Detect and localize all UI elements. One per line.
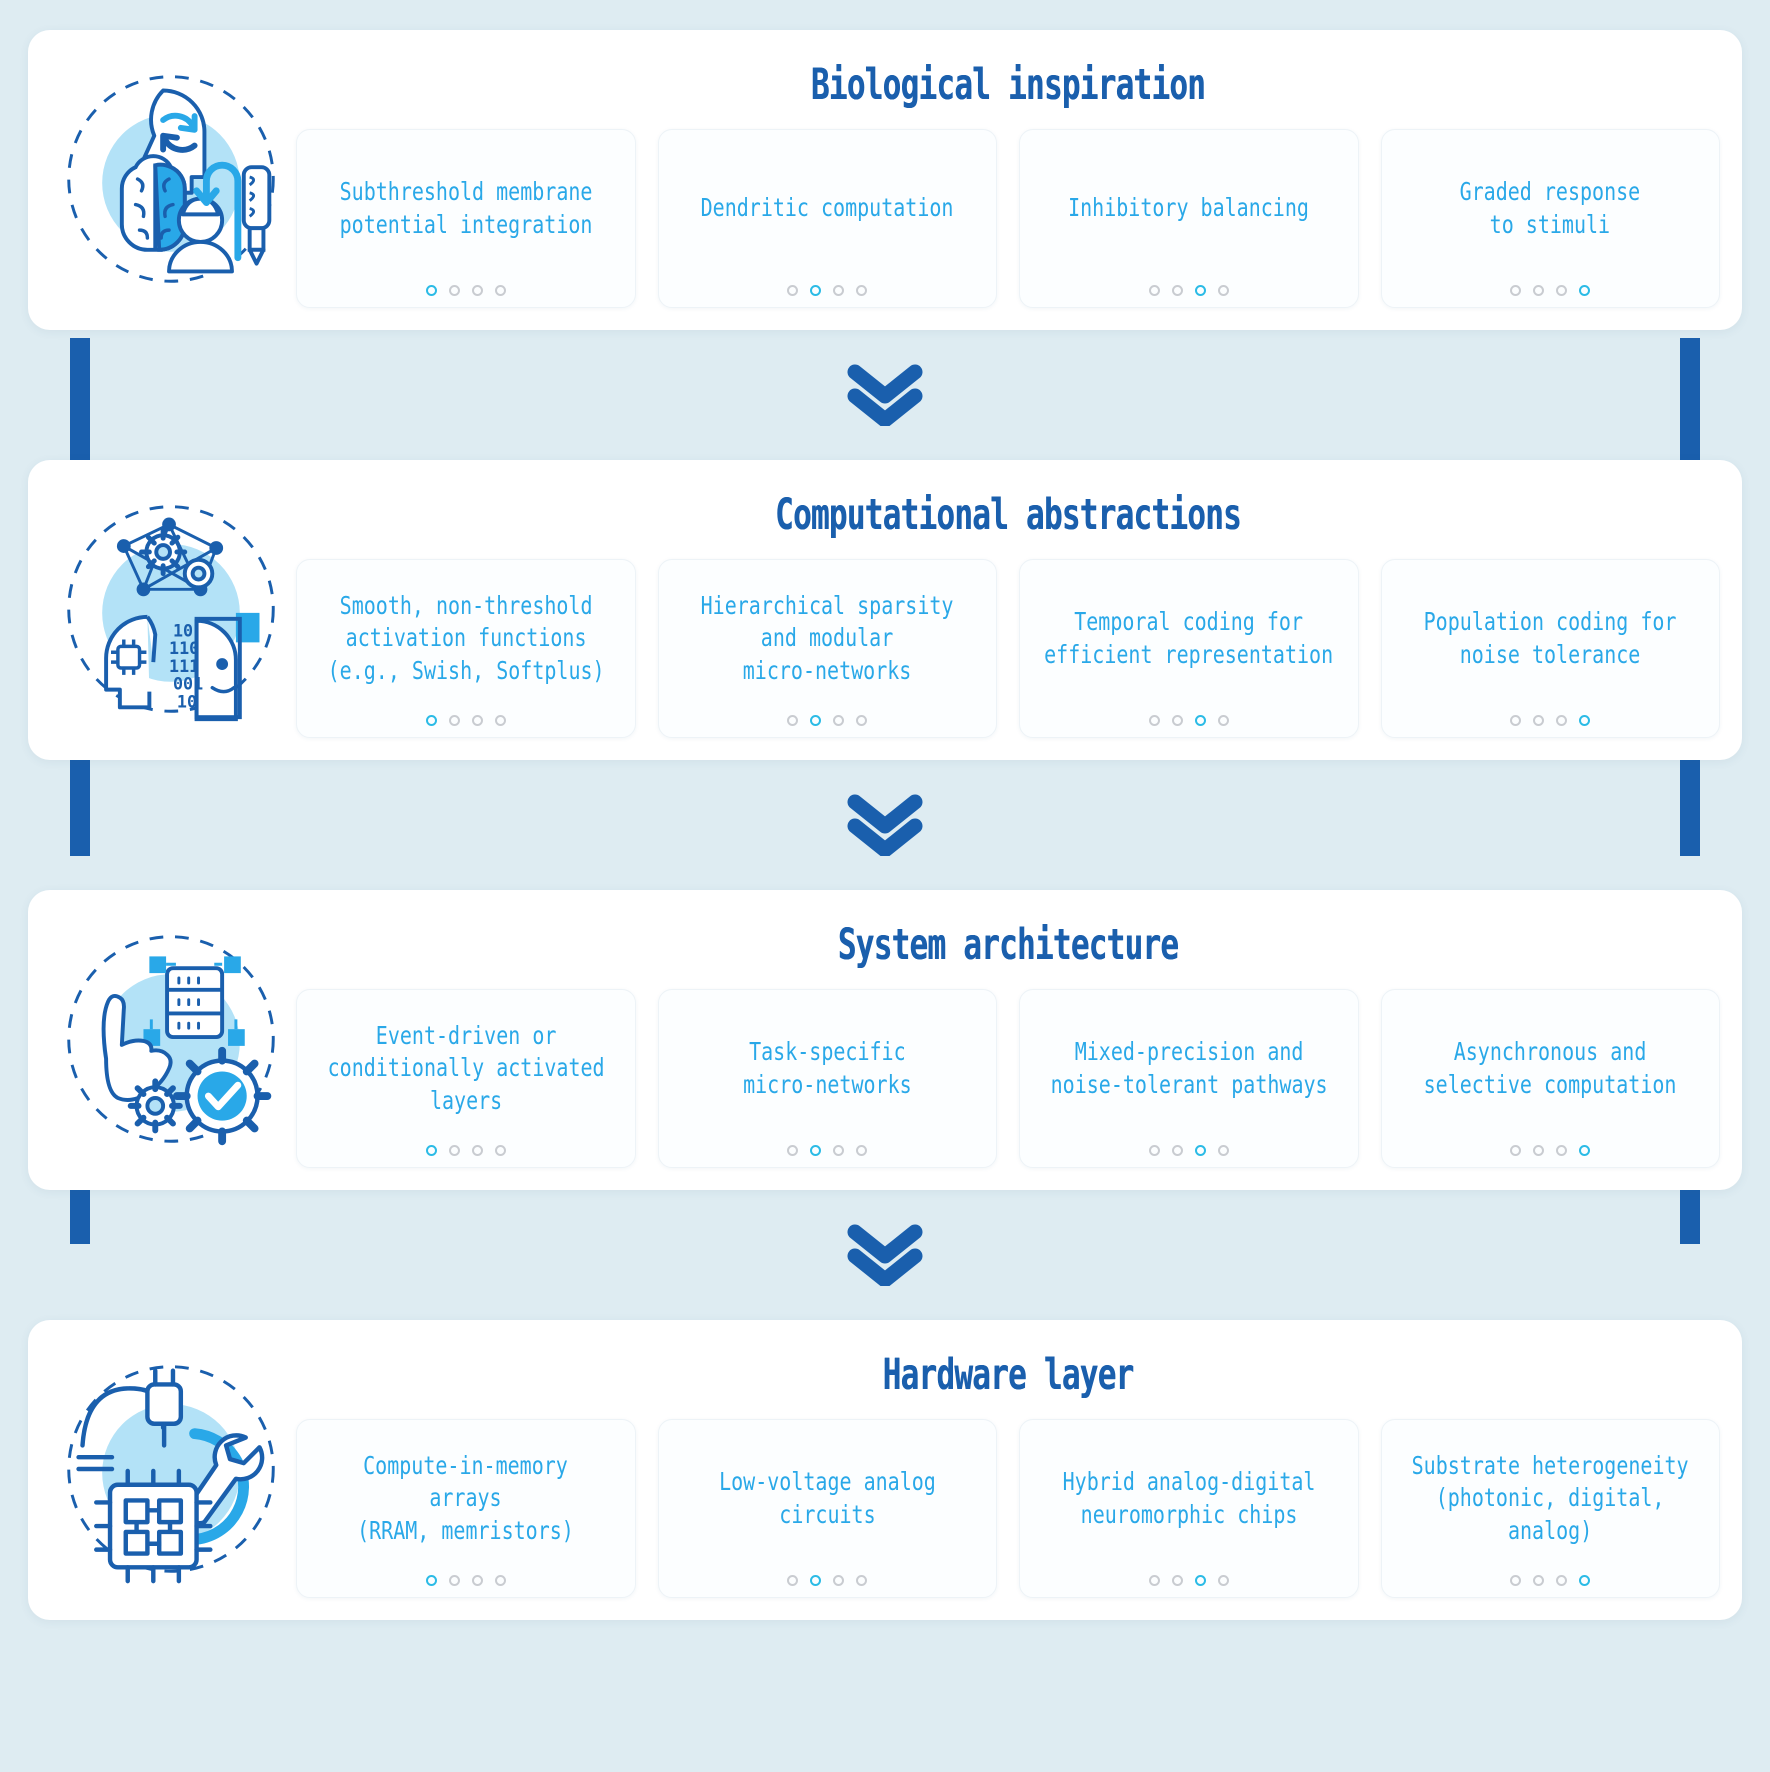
section-stack: Biological inspiration Subthreshold memb… (28, 30, 1742, 1620)
section-computational-abstractions: 10 110 111 001 10 Computational abstract… (28, 460, 1742, 760)
card-text-line: Task-specific (743, 1036, 912, 1069)
card-pagination-dots (1149, 1131, 1229, 1157)
pagination-dot[interactable] (1533, 285, 1544, 296)
hand-gear-checkmark-server-icon (46, 906, 296, 1172)
section-title: Biological inspiration (495, 46, 1520, 129)
pagination-dot[interactable] (1556, 285, 1567, 296)
neural-network-binary-head-icon: 10 110 111 001 10 (46, 476, 296, 742)
card-pagination-dots (1510, 1131, 1590, 1157)
pagination-dot[interactable] (449, 1575, 460, 1586)
pagination-dot[interactable] (472, 715, 483, 726)
section-title: Computational abstractions (495, 476, 1520, 559)
card-text-line: and modular (701, 622, 954, 655)
card-text-line: selective computation (1424, 1069, 1677, 1102)
card-text-line: arrays (357, 1482, 574, 1515)
pagination-dot-active[interactable] (1579, 1145, 1590, 1156)
card-text-line: noise-tolerant pathways (1050, 1069, 1327, 1102)
card-text-line: to stimuli (1460, 209, 1641, 242)
card-label: Hybrid analog-digitalneuromorphic chips (1062, 1436, 1315, 1561)
pagination-dot[interactable] (787, 1575, 798, 1586)
double-chevron-down-icon (28, 1190, 1742, 1320)
card-text-line: Compute-in-memory (357, 1450, 574, 1483)
card-row: Compute-in-memoryarrays(RRAM, memristors… (296, 1419, 1720, 1602)
double-chevron-down-icon (28, 330, 1742, 460)
concept-card[interactable]: Population coding fornoise tolerance (1381, 559, 1721, 738)
concept-card[interactable]: Task-specificmicro-networks (658, 989, 998, 1168)
card-label: Mixed-precision andnoise-tolerant pathwa… (1050, 1006, 1327, 1131)
pagination-dot[interactable] (1533, 1145, 1544, 1156)
card-label: Substrate heterogeneity(photonic, digita… (1412, 1436, 1689, 1561)
card-pagination-dots (787, 701, 867, 727)
pagination-dot[interactable] (1172, 715, 1183, 726)
pagination-dot[interactable] (1510, 715, 1521, 726)
card-pagination-dots (426, 1131, 506, 1157)
pagination-dot-active[interactable] (1579, 1575, 1590, 1586)
section-body: Hardware layer Compute-in-memoryarrays(R… (296, 1336, 1720, 1602)
card-pagination-dots (1510, 701, 1590, 727)
card-text-line: potential integration (339, 209, 592, 242)
pagination-dot[interactable] (449, 715, 460, 726)
card-text-line: Mixed-precision and (1050, 1036, 1327, 1069)
pagination-dot[interactable] (856, 715, 867, 726)
pagination-dot-active[interactable] (1195, 1145, 1206, 1156)
pagination-dot[interactable] (449, 1145, 460, 1156)
pagination-dot-active[interactable] (426, 1145, 437, 1156)
card-label: Event-driven orconditionally activatedla… (327, 1006, 604, 1131)
pagination-dot[interactable] (1149, 1575, 1160, 1586)
section-body: Biological inspiration Subthreshold memb… (296, 46, 1720, 312)
card-text-line: micro-networks (743, 1069, 912, 1102)
pagination-dot[interactable] (1218, 1145, 1229, 1156)
card-text-line: (RRAM, memristors) (357, 1515, 574, 1548)
section-system-architecture: System architecture Event-driven orcondi… (28, 890, 1742, 1190)
card-pagination-dots (426, 1561, 506, 1587)
pagination-dot[interactable] (1510, 1575, 1521, 1586)
pagination-dot[interactable] (833, 715, 844, 726)
pagination-dot[interactable] (449, 285, 460, 296)
pagination-dot-active[interactable] (1195, 285, 1206, 296)
pagination-dot[interactable] (787, 715, 798, 726)
card-text-line: Population coding for (1424, 606, 1677, 639)
pagination-dot[interactable] (472, 1575, 483, 1586)
card-pagination-dots (787, 1561, 867, 1587)
pagination-dot-active[interactable] (1195, 1575, 1206, 1586)
card-text-line: Low-voltage analog (719, 1466, 936, 1499)
card-label: Subthreshold membranepotential integrati… (339, 146, 592, 271)
concept-card[interactable]: Temporal coding forefficient representat… (1019, 559, 1359, 738)
card-pagination-dots (1510, 271, 1590, 297)
card-text-line: noise tolerance (1424, 639, 1677, 672)
concept-card[interactable]: Mixed-precision andnoise-tolerant pathwa… (1019, 989, 1359, 1168)
card-pagination-dots (426, 701, 506, 727)
pagination-dot[interactable] (1172, 1145, 1183, 1156)
pagination-dot[interactable] (472, 285, 483, 296)
pagination-dot[interactable] (856, 1145, 867, 1156)
pagination-dot[interactable] (787, 285, 798, 296)
pagination-dot[interactable] (472, 1145, 483, 1156)
card-pagination-dots (1149, 701, 1229, 727)
infographic-root: Biological inspiration Subthreshold memb… (0, 0, 1770, 1772)
pagination-dot[interactable] (1533, 715, 1544, 726)
pagination-dot[interactable] (1556, 715, 1567, 726)
card-text-line: Graded response (1460, 176, 1641, 209)
pagination-dot[interactable] (1218, 285, 1229, 296)
card-text-line: (e.g., Swish, Softplus) (327, 655, 604, 688)
pagination-dot-active[interactable] (1195, 715, 1206, 726)
concept-card[interactable]: Graded responseto stimuli (1381, 129, 1721, 308)
card-text-line: Temporal coding for (1044, 606, 1333, 639)
brain-head-neuron-icon (46, 46, 296, 312)
card-text-line: circuits (719, 1499, 936, 1532)
card-text-line: Dendritic computation (701, 192, 954, 225)
card-text-line: Asynchronous and (1424, 1036, 1677, 1069)
card-pagination-dots (1149, 271, 1229, 297)
pagination-dot[interactable] (1149, 285, 1160, 296)
card-pagination-dots (426, 271, 506, 297)
pagination-dot[interactable] (495, 285, 506, 296)
pagination-dot[interactable] (1149, 1145, 1160, 1156)
card-label: Low-voltage analogcircuits (719, 1436, 936, 1561)
card-text-line: analog) (1412, 1515, 1689, 1548)
card-text-line: Hierarchical sparsity (701, 590, 954, 623)
card-row: Subthreshold membranepotential integrati… (296, 129, 1720, 312)
double-chevron-down-icon (28, 760, 1742, 890)
pagination-dot[interactable] (1218, 715, 1229, 726)
pagination-dot[interactable] (495, 1145, 506, 1156)
card-text-line: efficient representation (1044, 639, 1333, 672)
pagination-dot-active[interactable] (810, 1145, 821, 1156)
pagination-dot-active[interactable] (426, 285, 437, 296)
pagination-dot[interactable] (1218, 1575, 1229, 1586)
concept-card[interactable]: Compute-in-memoryarrays(RRAM, memristors… (296, 1419, 636, 1598)
pagination-dot-active[interactable] (426, 715, 437, 726)
concept-card[interactable]: Hybrid analog-digitalneuromorphic chips (1019, 1419, 1359, 1598)
card-pagination-dots (787, 1131, 867, 1157)
pagination-dot-active[interactable] (1579, 285, 1590, 296)
chip-wrench-circuit-icon (46, 1336, 296, 1602)
pagination-dot-active[interactable] (810, 285, 821, 296)
pagination-dot[interactable] (833, 1575, 844, 1586)
pagination-dot[interactable] (1172, 1575, 1183, 1586)
pagination-dot[interactable] (1533, 1575, 1544, 1586)
card-text-line: Hybrid analog-digital (1062, 1466, 1315, 1499)
card-text-line: Substrate heterogeneity (1412, 1450, 1689, 1483)
card-pagination-dots (1510, 1561, 1590, 1587)
pagination-dot-active[interactable] (810, 715, 821, 726)
section-body: System architecture Event-driven orcondi… (296, 906, 1720, 1172)
card-label: Dendritic computation (701, 146, 954, 271)
section-title: Hardware layer (495, 1336, 1520, 1419)
concept-card[interactable]: Inhibitory balancing (1019, 129, 1359, 308)
card-label: Temporal coding forefficient representat… (1044, 576, 1333, 701)
svg-text:10: 10 (177, 691, 197, 711)
card-label: Hierarchical sparsityand modularmicro-ne… (701, 576, 954, 701)
pagination-dot[interactable] (1556, 1575, 1567, 1586)
pagination-dot[interactable] (856, 285, 867, 296)
pagination-dot[interactable] (1510, 1145, 1521, 1156)
section-title: System architecture (495, 906, 1520, 989)
card-pagination-dots (787, 271, 867, 297)
card-label: Population coding fornoise tolerance (1424, 576, 1677, 701)
card-text-line: Smooth, non-threshold (327, 590, 604, 623)
concept-card[interactable]: Subthreshold membranepotential integrati… (296, 129, 636, 308)
concept-card[interactable]: Asynchronous andselective computation (1381, 989, 1721, 1168)
card-text-line: Inhibitory balancing (1068, 192, 1309, 225)
concept-card[interactable]: Substrate heterogeneity(photonic, digita… (1381, 1419, 1721, 1598)
card-label: Task-specificmicro-networks (743, 1006, 912, 1131)
card-label: Smooth, non-thresholdactivation function… (327, 576, 604, 701)
pagination-dot-active[interactable] (426, 1575, 437, 1586)
card-label: Compute-in-memoryarrays(RRAM, memristors… (357, 1436, 574, 1561)
section-body: Computational abstractions Smooth, non-t… (296, 476, 1720, 742)
pagination-dot[interactable] (1556, 1145, 1567, 1156)
card-text-line: Subthreshold membrane (339, 176, 592, 209)
card-text-line: Event-driven or (327, 1020, 604, 1053)
pagination-dot[interactable] (833, 285, 844, 296)
pagination-dot[interactable] (1172, 285, 1183, 296)
card-text-line: conditionally activated (327, 1052, 604, 1085)
pagination-dot[interactable] (1149, 715, 1160, 726)
concept-card[interactable]: Dendritic computation (658, 129, 998, 308)
card-pagination-dots (1149, 1561, 1229, 1587)
section-biological-inspiration: Biological inspiration Subthreshold memb… (28, 30, 1742, 330)
pagination-dot[interactable] (833, 1145, 844, 1156)
pagination-dot[interactable] (856, 1575, 867, 1586)
card-label: Graded responseto stimuli (1460, 146, 1641, 271)
pagination-dot[interactable] (1510, 285, 1521, 296)
pagination-dot[interactable] (495, 715, 506, 726)
card-text-line: neuromorphic chips (1062, 1499, 1315, 1532)
pagination-dot-active[interactable] (1579, 715, 1590, 726)
pagination-dot-active[interactable] (810, 1575, 821, 1586)
card-text-line: micro-networks (701, 655, 954, 688)
card-text-line: (photonic, digital, (1412, 1482, 1689, 1515)
card-text-line: layers (327, 1085, 604, 1118)
card-row: Smooth, non-thresholdactivation function… (296, 559, 1720, 742)
concept-card[interactable]: Event-driven orconditionally activatedla… (296, 989, 636, 1168)
section-hardware-layer: Hardware layer Compute-in-memoryarrays(R… (28, 1320, 1742, 1620)
concept-card[interactable]: Smooth, non-thresholdactivation function… (296, 559, 636, 738)
concept-card[interactable]: Hierarchical sparsityand modularmicro-ne… (658, 559, 998, 738)
card-label: Inhibitory balancing (1068, 146, 1309, 271)
card-label: Asynchronous andselective computation (1424, 1006, 1677, 1131)
card-row: Event-driven orconditionally activatedla… (296, 989, 1720, 1172)
concept-card[interactable]: Low-voltage analogcircuits (658, 1419, 998, 1598)
card-text-line: activation functions (327, 622, 604, 655)
pagination-dot[interactable] (787, 1145, 798, 1156)
pagination-dot[interactable] (495, 1575, 506, 1586)
